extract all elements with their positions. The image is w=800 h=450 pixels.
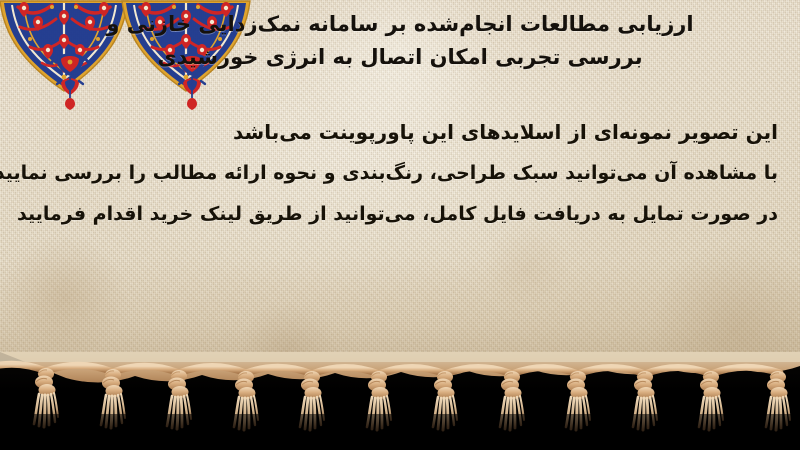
title-line-1: ارزیابی مطالعات انجام‌شده بر سامانه نمک‌… <box>60 8 740 41</box>
body-line-1: این تصویر نمونه‌ای از اسلایدهای این پاور… <box>18 112 778 153</box>
body-line-2: با مشاهده آن می‌توانید سبک طراحی، رنگ‌بن… <box>18 153 778 194</box>
title-line-2: بررسی تجربی امکان اتصال به انرژی خورشیدی <box>60 41 740 74</box>
fringe-tassels-icon <box>0 352 800 450</box>
slide-title: ارزیابی مطالعات انجام‌شده بر سامانه نمک‌… <box>60 8 740 74</box>
slide-canvas: ارزیابی مطالعات انجام‌شده بر سامانه نمک‌… <box>0 0 800 450</box>
body-line-3: در صورت تمایل به دریافت فایل کامل، می‌تو… <box>18 194 778 235</box>
slide-body: این تصویر نمونه‌ای از اسلایدهای این پاور… <box>18 112 778 235</box>
carpet-fringe <box>0 352 800 450</box>
